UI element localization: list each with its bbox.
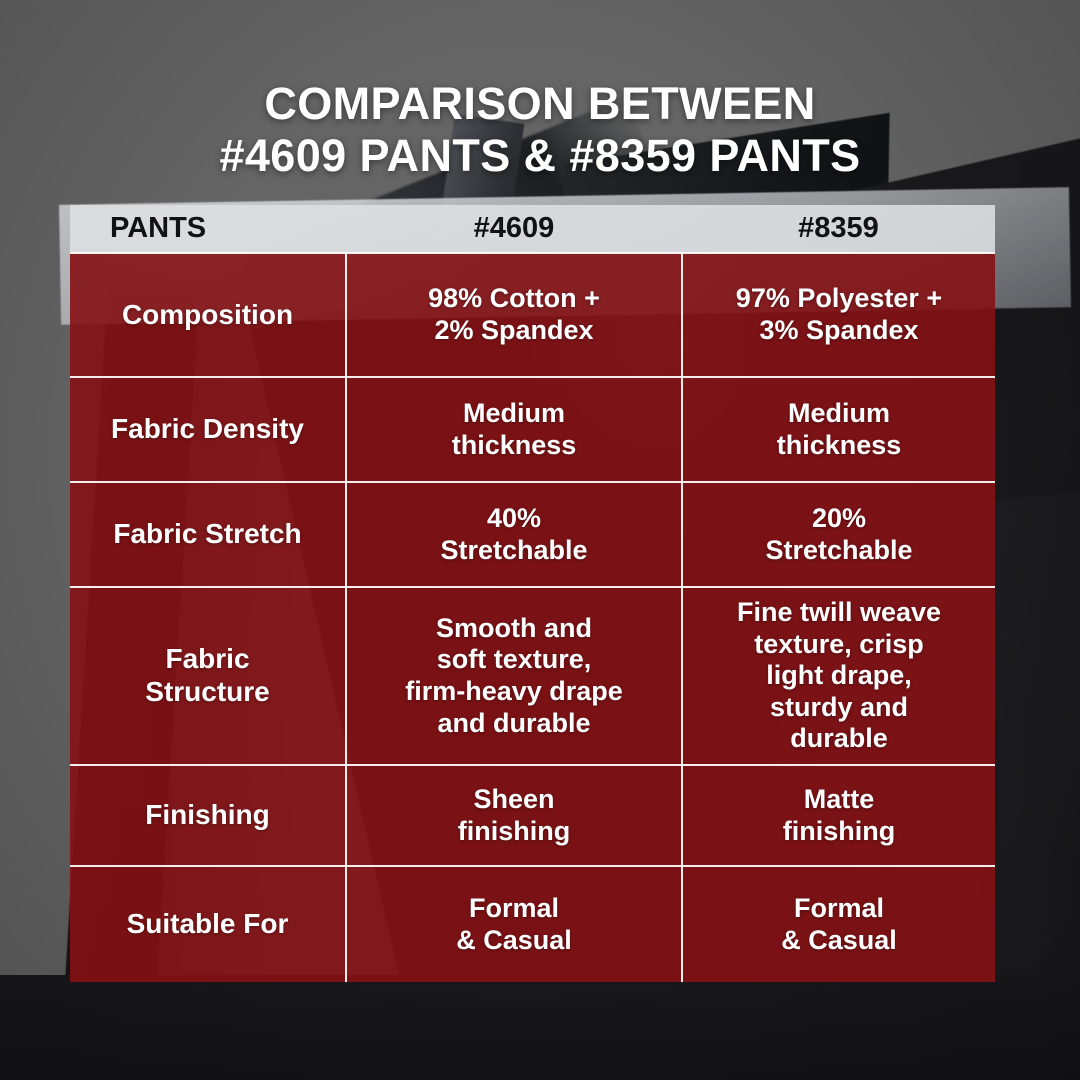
cell-8359-suitable-for: Formal& Casual: [682, 866, 995, 982]
table-row: Fabric Density Mediumthickness Mediumthi…: [70, 377, 995, 482]
cell-4609-composition: 98% Cotton +2% Spandex: [346, 253, 682, 377]
row-label-suitable-for: Suitable For: [70, 866, 346, 982]
table-header: PANTS #4609 #8359: [70, 205, 995, 253]
table-header-row: PANTS #4609 #8359: [70, 205, 995, 253]
cell-4609-fabric-structure: Smooth andsoft texture,firm-heavy drapea…: [346, 587, 682, 765]
table-row: Finishing Sheenfinishing Mattefinishing: [70, 765, 995, 866]
table-row: FabricStructure Smooth andsoft texture,f…: [70, 587, 995, 765]
comparison-table: PANTS #4609 #8359 Composition 98% Cotton…: [70, 205, 995, 982]
table-row: Suitable For Formal& Casual Formal& Casu…: [70, 866, 995, 982]
row-label-composition: Composition: [70, 253, 346, 377]
cell-4609-finishing: Sheenfinishing: [346, 765, 682, 866]
cell-8359-fabric-stretch: 20%Stretchable: [682, 482, 995, 587]
cell-8359-fabric-density: Mediumthickness: [682, 377, 995, 482]
header-attribute: PANTS: [70, 205, 346, 253]
comparison-infographic: COMPARISON BETWEEN #4609 PANTS & #8359 P…: [0, 0, 1080, 1080]
table-row: Composition 98% Cotton +2% Spandex 97% P…: [70, 253, 995, 377]
title-line-1: COMPARISON BETWEEN: [0, 78, 1080, 130]
cell-4609-fabric-density: Mediumthickness: [346, 377, 682, 482]
header-product-8359: #8359: [682, 205, 995, 253]
cell-8359-fabric-structure: Fine twill weavetexture, crisplight drap…: [682, 587, 995, 765]
table-row: Fabric Stretch 40%Stretchable 20%Stretch…: [70, 482, 995, 587]
title-line-2: #4609 PANTS & #8359 PANTS: [0, 130, 1080, 182]
row-label-fabric-stretch: Fabric Stretch: [70, 482, 346, 587]
row-label-fabric-density: Fabric Density: [70, 377, 346, 482]
row-label-fabric-structure: FabricStructure: [70, 587, 346, 765]
cell-4609-suitable-for: Formal& Casual: [346, 866, 682, 982]
header-product-4609: #4609: [346, 205, 682, 253]
comparison-table-container: PANTS #4609 #8359 Composition 98% Cotton…: [70, 205, 995, 982]
cell-8359-finishing: Mattefinishing: [682, 765, 995, 866]
page-title: COMPARISON BETWEEN #4609 PANTS & #8359 P…: [0, 78, 1080, 182]
cell-8359-composition: 97% Polyester +3% Spandex: [682, 253, 995, 377]
row-label-finishing: Finishing: [70, 765, 346, 866]
cell-4609-fabric-stretch: 40%Stretchable: [346, 482, 682, 587]
table-body: Composition 98% Cotton +2% Spandex 97% P…: [70, 253, 995, 982]
